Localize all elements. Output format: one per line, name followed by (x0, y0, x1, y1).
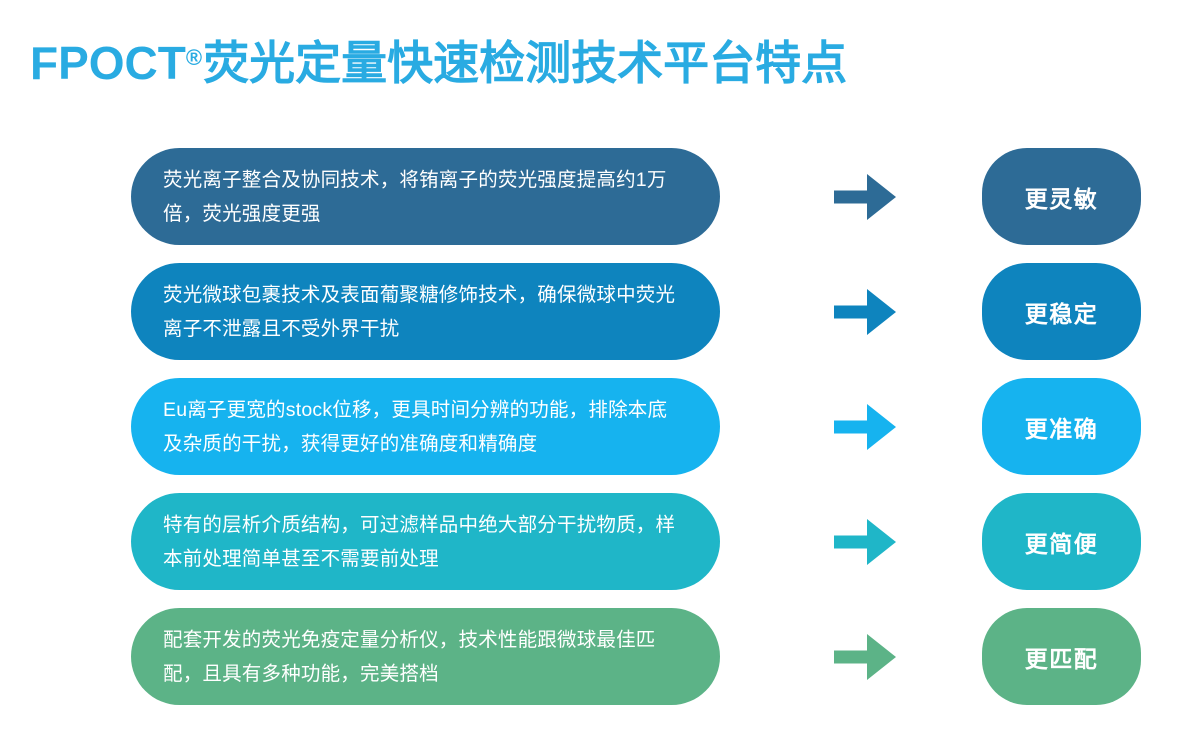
page-title: FPOCT®荧光定量快速检测技术平台特点 (30, 28, 1170, 98)
feature-description-pill-1[interactable]: 荧光离子整合及协同技术，将铕离子的荧光强度提高约1万倍，荧光强度更强 (131, 148, 720, 245)
feature-description-text: Eu离子更宽的stock位移，更具时间分辨的功能，排除本底及杂质的干扰，获得更好… (163, 393, 686, 461)
feature-badge-4[interactable]: 更简便 (982, 493, 1141, 590)
page-title-subject: 荧光定量快速检测技术平台特点 (203, 39, 847, 87)
feature-badge-label: 更匹配 (1025, 640, 1099, 674)
feature-row-4: 特有的层析介质结构，可过滤样品中绝大部分干扰物质，样本前处理简单甚至不需要前处理… (0, 493, 1200, 590)
feature-description-pill-2[interactable]: 荧光微球包裹技术及表面葡聚糖修饰技术，确保微球中荧光离子不泄露且不受外界干扰 (131, 263, 720, 360)
feature-badge-label: 更灵敏 (1025, 180, 1099, 214)
arrow-right-icon (800, 608, 930, 705)
arrow-right-icon (800, 263, 930, 360)
slide-root: FPOCT®荧光定量快速检测技术平台特点 荧光离子整合及协同技术，将铕离子的荧光… (0, 0, 1200, 738)
arrow-right-icon (800, 148, 930, 245)
feature-row-2: 荧光微球包裹技术及表面葡聚糖修饰技术，确保微球中荧光离子不泄露且不受外界干扰 更… (0, 263, 1200, 360)
feature-description-text: 特有的层析介质结构，可过滤样品中绝大部分干扰物质，样本前处理简单甚至不需要前处理 (163, 508, 686, 576)
feature-description-pill-3[interactable]: Eu离子更宽的stock位移，更具时间分辨的功能，排除本底及杂质的干扰，获得更好… (131, 378, 720, 475)
feature-badge-label: 更简便 (1025, 525, 1099, 559)
feature-badge-1[interactable]: 更灵敏 (982, 148, 1141, 245)
feature-badge-5[interactable]: 更匹配 (982, 608, 1141, 705)
page-title-brand: FPOCT (30, 39, 186, 87)
feature-badge-label: 更稳定 (1025, 295, 1099, 329)
feature-row-list: 荧光离子整合及协同技术，将铕离子的荧光强度提高约1万倍，荧光强度更强 更灵敏 荧… (0, 148, 1200, 705)
feature-description-text: 荧光微球包裹技术及表面葡聚糖修饰技术，确保微球中荧光离子不泄露且不受外界干扰 (163, 278, 686, 346)
registered-trademark-icon: ® (186, 46, 202, 69)
feature-description-pill-4[interactable]: 特有的层析介质结构，可过滤样品中绝大部分干扰物质，样本前处理简单甚至不需要前处理 (131, 493, 720, 590)
feature-description-text: 荧光离子整合及协同技术，将铕离子的荧光强度提高约1万倍，荧光强度更强 (163, 163, 686, 231)
feature-description-text: 配套开发的荧光免疫定量分析仪，技术性能跟微球最佳匹配，且具有多种功能，完美搭档 (163, 623, 686, 691)
feature-row-3: Eu离子更宽的stock位移，更具时间分辨的功能，排除本底及杂质的干扰，获得更好… (0, 378, 1200, 475)
feature-badge-label: 更准确 (1025, 410, 1099, 444)
arrow-right-icon (800, 378, 930, 475)
feature-description-pill-5[interactable]: 配套开发的荧光免疫定量分析仪，技术性能跟微球最佳匹配，且具有多种功能，完美搭档 (131, 608, 720, 705)
feature-badge-2[interactable]: 更稳定 (982, 263, 1141, 360)
feature-row-5: 配套开发的荧光免疫定量分析仪，技术性能跟微球最佳匹配，且具有多种功能，完美搭档 … (0, 608, 1200, 705)
page-title-text: FPOCT®荧光定量快速检测技术平台特点 (30, 39, 847, 87)
feature-row-1: 荧光离子整合及协同技术，将铕离子的荧光强度提高约1万倍，荧光强度更强 更灵敏 (0, 148, 1200, 245)
arrow-right-icon (800, 493, 930, 590)
feature-badge-3[interactable]: 更准确 (982, 378, 1141, 475)
